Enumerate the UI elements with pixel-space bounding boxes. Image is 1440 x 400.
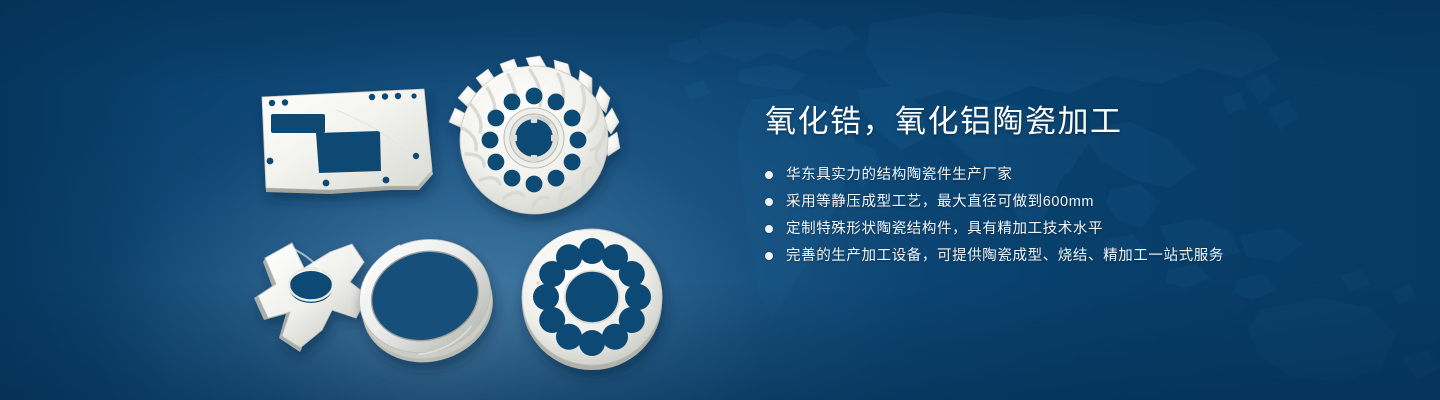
banner-headline: 氧化锆，氧化铝陶瓷加工 <box>765 104 1385 140</box>
ceramic-perforated-disc <box>522 229 662 370</box>
hero-banner: 氧化锆，氧化铝陶瓷加工 华东具实力的结构陶瓷件生产厂家 采用等静压成型工艺，最大… <box>0 0 1440 400</box>
feature-text: 华东具实力的结构陶瓷件生产厂家 <box>786 166 1013 184</box>
bullet-dot-icon <box>765 171 773 179</box>
ceramic-impeller-wheel <box>449 56 620 214</box>
feature-item: 完善的生产加工设备，可提供陶瓷成型、烧结、精加工一站式服务 <box>765 247 1385 265</box>
bullet-dot-icon <box>765 198 773 206</box>
banner-feature-list: 华东具实力的结构陶瓷件生产厂家 采用等静压成型工艺，最大直径可做到600mm 定… <box>765 166 1385 266</box>
ceramic-ring <box>347 226 505 376</box>
bullet-dot-icon <box>765 252 773 260</box>
bullet-dot-icon <box>765 225 773 233</box>
feature-item: 定制特殊形状陶瓷结构件，具有精加工技术水平 <box>765 220 1385 238</box>
feature-item: 华东具实力的结构陶瓷件生产厂家 <box>765 166 1385 184</box>
feature-item: 采用等静压成型工艺，最大直径可做到600mm <box>765 193 1385 211</box>
ceramic-cross-cam-plate <box>254 243 368 352</box>
feature-text: 采用等静压成型工艺，最大直径可做到600mm <box>786 193 1094 211</box>
ceramic-mounting-plate <box>262 89 433 194</box>
feature-text: 完善的生产加工设备，可提供陶瓷成型、烧结、精加工一站式服务 <box>786 247 1224 265</box>
product-photo-group <box>0 0 720 400</box>
banner-copy: 氧化锆，氧化铝陶瓷加工 华东具实力的结构陶瓷件生产厂家 采用等静压成型工艺，最大… <box>765 104 1385 265</box>
feature-text: 定制特殊形状陶瓷结构件，具有精加工技术水平 <box>786 220 1103 238</box>
